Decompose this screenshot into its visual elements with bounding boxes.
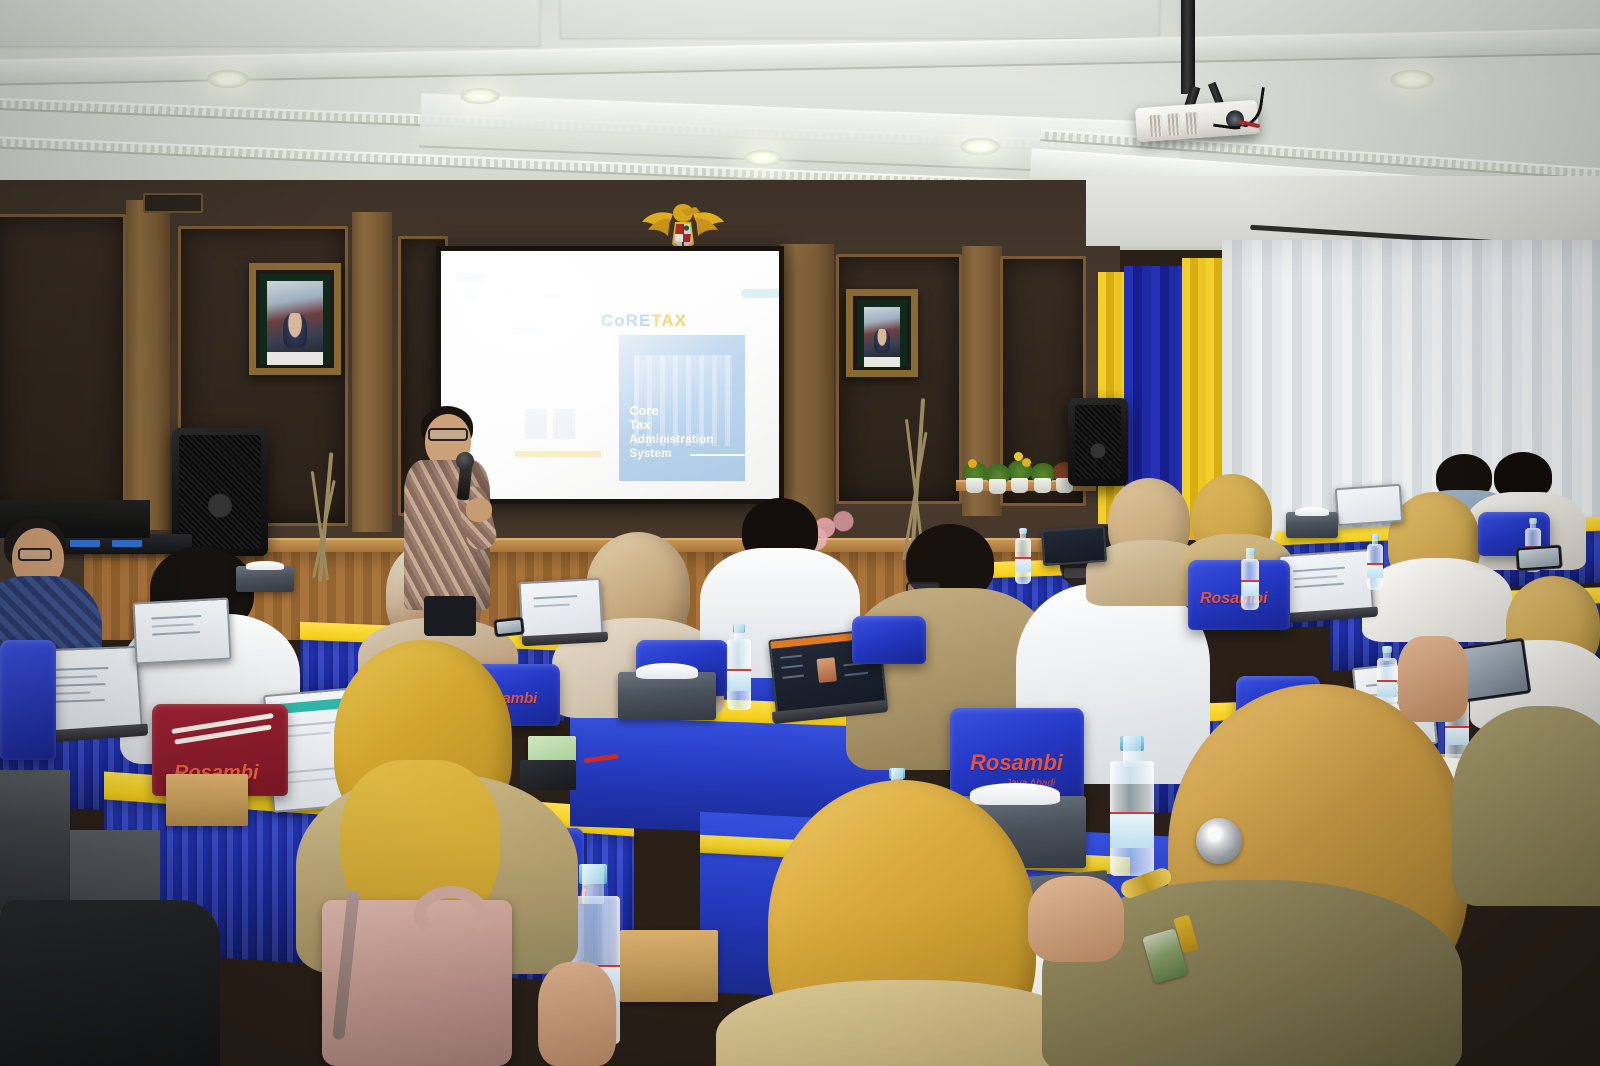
projection-screen: CoRETAX Core Tax Administration System bbox=[441, 251, 779, 499]
tissue-paper bbox=[636, 663, 699, 679]
screen-text-line bbox=[1294, 583, 1344, 588]
presenter-hand bbox=[466, 498, 492, 522]
ceiling-downlight bbox=[460, 88, 500, 104]
ceiling-coffer bbox=[560, 0, 1160, 38]
screen-photo-thumbnail bbox=[816, 657, 836, 683]
water-bottle bbox=[1108, 736, 1156, 876]
participant-shoulders bbox=[1452, 706, 1600, 906]
president-portrait bbox=[249, 263, 341, 375]
wall-pilaster-center-left bbox=[780, 244, 834, 524]
bottle-label bbox=[1015, 557, 1032, 572]
projector-vent bbox=[1185, 112, 1199, 135]
water-bottle bbox=[1014, 528, 1032, 584]
bottle-label bbox=[1241, 580, 1259, 596]
screen-text-line bbox=[1293, 567, 1345, 573]
screen-text-line bbox=[152, 631, 200, 636]
projector-vent bbox=[1149, 114, 1163, 137]
speaker-grille bbox=[179, 435, 261, 549]
bottle-label bbox=[1445, 726, 1469, 746]
slide-ghost-element bbox=[741, 289, 779, 298]
water-bottle bbox=[1240, 548, 1260, 610]
screen-text-line bbox=[1294, 575, 1338, 580]
eyeglasses bbox=[18, 548, 52, 561]
portrait-photo bbox=[864, 307, 900, 359]
participant-hand bbox=[538, 962, 616, 1066]
vice-president-portrait bbox=[846, 289, 918, 377]
bottle-label bbox=[1377, 680, 1397, 697]
slide-underline bbox=[690, 454, 745, 456]
snack-box bbox=[620, 930, 718, 1002]
laptop-screen[interactable] bbox=[132, 598, 231, 665]
tissue-paper bbox=[970, 783, 1061, 805]
ceiling-downlight bbox=[960, 138, 1000, 155]
chair-brand-logo: Rosambi bbox=[970, 750, 1063, 776]
screen-text-line bbox=[152, 623, 194, 627]
right-pa-speaker bbox=[1068, 398, 1128, 486]
potted-plant bbox=[966, 478, 983, 493]
phone-screen bbox=[1518, 548, 1559, 569]
smartphone[interactable] bbox=[1515, 544, 1563, 571]
portrait-caption bbox=[267, 352, 323, 365]
phone-screen bbox=[496, 620, 521, 634]
slide-ghost-element bbox=[509, 293, 525, 299]
slide-ghost-element bbox=[513, 327, 541, 334]
slide-ghost-element bbox=[553, 409, 575, 439]
bottle-label bbox=[1110, 812, 1154, 848]
slide-ghost-element bbox=[467, 291, 476, 300]
participant-hand bbox=[1028, 876, 1124, 962]
tissue-box bbox=[1286, 512, 1338, 538]
potted-plant bbox=[1011, 478, 1028, 493]
screen-text-line bbox=[282, 721, 342, 728]
chair-back[interactable]: Rosambi bbox=[1188, 560, 1290, 630]
smartphone[interactable] bbox=[493, 616, 525, 637]
participant-hand bbox=[1398, 636, 1468, 722]
projection-screen-frame: CoRETAX Core Tax Administration System bbox=[436, 246, 784, 504]
tablet-device bbox=[520, 760, 576, 790]
wall-pilaster bbox=[126, 200, 170, 530]
snack-box bbox=[166, 774, 248, 826]
plant-flower bbox=[1022, 458, 1031, 467]
speaker-grille bbox=[1075, 405, 1121, 479]
floor bbox=[0, 770, 70, 910]
slide-ghost-element bbox=[525, 409, 547, 439]
tissue-paper bbox=[1295, 507, 1328, 516]
slide-ghost-element bbox=[545, 293, 559, 299]
screen-text-line bbox=[534, 604, 570, 608]
jeweled-brooch bbox=[1196, 818, 1242, 864]
screen-text-line bbox=[533, 595, 577, 599]
bottle-label bbox=[727, 669, 751, 691]
slide-ghost-element bbox=[457, 273, 485, 282]
chair-back[interactable] bbox=[0, 640, 56, 760]
screen-text-line bbox=[283, 732, 331, 738]
slide-card-title: Core Tax Administration System bbox=[629, 404, 714, 461]
handbag-handle bbox=[414, 886, 488, 942]
presenter-trousers bbox=[424, 596, 476, 636]
ceiling-coffer bbox=[0, 0, 540, 46]
mixer-display bbox=[112, 540, 142, 547]
foreground-shadow bbox=[0, 900, 220, 1066]
slide-title-line: Administration bbox=[629, 433, 714, 447]
ceiling-downlight bbox=[1390, 70, 1434, 89]
water-bottle bbox=[726, 624, 752, 710]
laptop-screen[interactable] bbox=[1335, 484, 1403, 527]
microphone-head bbox=[456, 452, 474, 470]
tissue-paper bbox=[246, 561, 283, 570]
projector-vent bbox=[1167, 113, 1181, 136]
slide-title-line: Core bbox=[629, 404, 714, 419]
logo-tax-text: TAX bbox=[651, 311, 687, 330]
screen-text-line bbox=[780, 655, 802, 659]
projector-mount-pole bbox=[1181, 0, 1195, 94]
wall-pilaster bbox=[352, 212, 392, 532]
screen-text-line bbox=[151, 615, 201, 620]
presenter-eyeglasses bbox=[428, 428, 468, 441]
logo-core-text: CoRE bbox=[601, 311, 651, 330]
tissue-box bbox=[618, 672, 716, 720]
tissue-box bbox=[236, 566, 294, 592]
portrait-photo bbox=[267, 281, 323, 357]
potted-plant bbox=[989, 479, 1006, 494]
participant-shoulders bbox=[1362, 558, 1512, 642]
water-bottle bbox=[1366, 534, 1384, 590]
bottle-label bbox=[1367, 563, 1384, 578]
seminar-room-photo: CoRETAX Core Tax Administration System bbox=[0, 0, 1600, 1066]
plant-flower bbox=[968, 459, 977, 468]
potted-plant bbox=[1034, 478, 1051, 493]
slide-image-card: Core Tax Administration System bbox=[619, 335, 745, 481]
screen-text-line bbox=[782, 675, 804, 679]
portrait-caption bbox=[864, 357, 900, 367]
wall-light-fixture bbox=[143, 193, 203, 213]
chair-back[interactable] bbox=[852, 616, 926, 664]
slide-highlight-bar bbox=[515, 451, 601, 457]
screen-text-line bbox=[844, 672, 868, 676]
mixer-display bbox=[70, 540, 100, 547]
wall-panel bbox=[0, 214, 126, 514]
coretax-logo: CoRETAX bbox=[601, 311, 687, 331]
screen-text-line bbox=[287, 777, 339, 784]
laptop-screen[interactable] bbox=[1041, 526, 1107, 566]
laptop-screen[interactable] bbox=[519, 578, 604, 640]
screen-text-line bbox=[781, 665, 803, 669]
ceiling-downlight bbox=[744, 150, 782, 166]
ceiling-downlight bbox=[207, 70, 249, 88]
slide-title-line: Tax bbox=[629, 418, 714, 433]
